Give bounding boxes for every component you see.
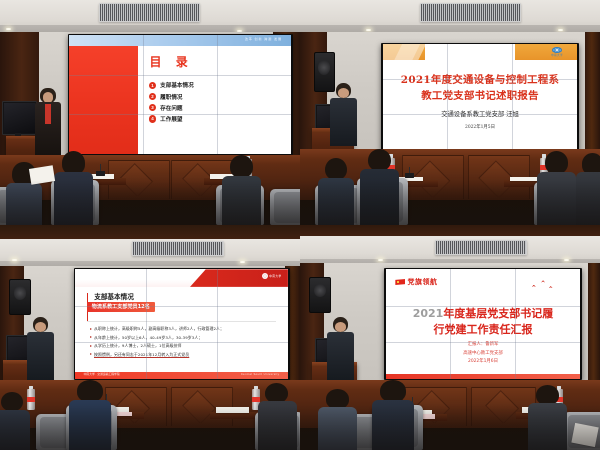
party-flag-banner: 党旗领航 bbox=[395, 277, 437, 287]
audience-head bbox=[265, 383, 288, 404]
bullet-marker-icon: ▸ bbox=[90, 352, 92, 356]
logo-disc-icon bbox=[262, 273, 268, 279]
bullet-marker-icon: ▸ bbox=[90, 344, 92, 348]
slide-title: 目 录 bbox=[150, 53, 193, 70]
downlight-icon bbox=[12, 259, 17, 261]
slide-surface: 中南大学 2021年度交通设备与控制工程系 教工党支部书记述职报告 交通设备系教… bbox=[383, 44, 578, 149]
slide-red-block bbox=[69, 46, 138, 154]
slide-surface: 支部基本情况 中南大学 物流系教工支部党员12名 ▸ 从职称上统计，高级职称5人… bbox=[75, 269, 288, 378]
list-item: 1 支部基本情况 bbox=[149, 81, 194, 89]
list-item: 4 工作展望 bbox=[149, 115, 194, 123]
slide-title-rest: 年度基层党支部书记履 bbox=[443, 307, 553, 320]
presenter-body bbox=[27, 332, 54, 381]
audience-head bbox=[582, 153, 600, 175]
foreground-shadow bbox=[300, 405, 600, 450]
presenter-body bbox=[327, 332, 354, 381]
list-item: ▸ 从职称上统计，高级职称5人，副高级职称3人，讲师2人，行政管理2人； bbox=[90, 326, 277, 332]
bullet-text: 从年龄上统计，50岁以上6人，40-49岁3人，30-39岁3人； bbox=[94, 335, 202, 341]
presenter bbox=[35, 88, 62, 156]
agenda-number: 4 bbox=[149, 115, 156, 122]
screen-seam bbox=[217, 269, 218, 378]
doves-icon bbox=[532, 279, 559, 292]
screen-seam bbox=[146, 269, 147, 378]
slide-surface: 党旗领航 2021年度基层党支部书记履 行党建工作责任汇报 汇报人：鲁新军 高速… bbox=[386, 269, 581, 378]
slide-date: 2022年1月6日 bbox=[468, 358, 498, 364]
slide-top-bar: 改革 创新 跨越 发展 bbox=[69, 35, 291, 46]
bullet-text: 从职称上统计，高级职称5人，副高级职称3人，讲师2人，行政管理2人； bbox=[94, 326, 224, 332]
foreground-shadow bbox=[300, 180, 600, 225]
screen-seam bbox=[450, 269, 451, 378]
university-logo: 中南大学 bbox=[262, 273, 282, 279]
led-video-wall: 中南大学 2021年度交通设备与控制工程系 教工党支部书记述职报告 交通设备系教… bbox=[381, 43, 579, 151]
slide-footer: 中南大学 · 交通运输工程学院 Central South University bbox=[75, 372, 288, 379]
slide-date: 2022年1月5日 bbox=[465, 124, 495, 130]
photo-panel-bottom-right: 党旗领航 2021年度基层党支部书记履 行党建工作责任汇报 汇报人：鲁新军 高速… bbox=[300, 225, 600, 450]
screen-seam bbox=[447, 44, 448, 149]
list-item: ▸ 按照惯例，另还有同志于2021年12月转入为正式党员 bbox=[90, 352, 277, 358]
desk-microphone bbox=[405, 173, 414, 178]
list-item: ▸ 从学历上统计，9人博士，2人硕士，1位高级技师 bbox=[90, 343, 277, 349]
bullet-text: 按照惯例，另还有同志于2021年12月转入为正式党员 bbox=[94, 352, 189, 358]
screen-seam bbox=[75, 342, 288, 343]
slide-band-gap bbox=[425, 44, 515, 60]
slide-title-line2: 教工党支部书记述职报告 bbox=[421, 87, 539, 102]
slide-divider bbox=[87, 321, 276, 322]
slide-tag-badge: 物流系教工支部党员12名 bbox=[87, 302, 155, 312]
slide-title-line2: 行党建工作责任汇报 bbox=[434, 321, 533, 337]
slide-title-year: 2021 bbox=[413, 307, 444, 320]
presenter bbox=[27, 317, 54, 380]
screen-seam bbox=[383, 79, 578, 80]
presenter bbox=[327, 317, 354, 380]
screen-seam bbox=[383, 114, 578, 115]
agenda-label: 支部基本情况 bbox=[160, 81, 194, 89]
bullet-marker-icon: ▸ bbox=[90, 327, 92, 331]
screen-seam bbox=[75, 306, 288, 307]
screen-seam bbox=[515, 269, 516, 378]
photo-panel-top-right: 中南大学 2021年度交通设备与控制工程系 教工党支部书记述职报告 交通设备系教… bbox=[300, 0, 600, 225]
ac-vent-icon bbox=[420, 3, 521, 22]
party-flag-icon bbox=[395, 279, 405, 285]
agenda-number: 3 bbox=[149, 104, 156, 111]
presenter-scarf bbox=[45, 104, 50, 124]
audience-head bbox=[62, 151, 85, 175]
audience-head bbox=[77, 380, 102, 402]
slide-organization: 高速中心教工党支部 bbox=[463, 350, 503, 356]
screen-seam bbox=[217, 35, 218, 153]
audience-head bbox=[230, 155, 253, 178]
agenda-label: 工作展望 bbox=[160, 115, 182, 123]
presenter bbox=[330, 83, 357, 146]
slide-title-line1: 2021年度基层党支部书记履 bbox=[413, 305, 554, 321]
list-item: 3 存在问题 bbox=[149, 104, 194, 112]
slide-footer-right: Central South University bbox=[241, 373, 280, 376]
screen-seam bbox=[69, 114, 291, 115]
downlight-icon bbox=[378, 259, 383, 261]
university-logo: 中南大学 bbox=[546, 47, 567, 57]
photo-collage-grid: 改革 创新 跨越 发展 目 录 1 支部基本情况 2 履职情况 3 存在问题 bbox=[0, 0, 600, 450]
slide-surface: 改革 创新 跨越 发展 目 录 1 支部基本情况 2 履职情况 3 存在问题 bbox=[69, 35, 291, 153]
ac-vent-icon bbox=[435, 240, 527, 256]
bullet-marker-icon: ▸ bbox=[90, 335, 92, 339]
ac-vent-icon bbox=[99, 3, 200, 22]
slide-top-bar-text: 改革 创新 跨越 发展 bbox=[245, 36, 282, 41]
slide-bullet-list: ▸ 从职称上统计，高级职称5人，副高级职称3人，讲师2人，行政管理2人； ▸ 从… bbox=[90, 326, 277, 360]
list-item: 2 履职情况 bbox=[149, 93, 194, 101]
agenda-list: 1 支部基本情况 2 履职情况 3 存在问题 4 工作展望 bbox=[149, 81, 194, 126]
wall-wainscot-right bbox=[585, 32, 600, 163]
wall-speaker bbox=[9, 279, 31, 315]
screen-seam bbox=[143, 35, 144, 153]
desk-microphone bbox=[96, 171, 105, 176]
audience-head bbox=[368, 149, 391, 172]
audience-head bbox=[545, 151, 568, 174]
audience-head bbox=[380, 380, 405, 402]
presenter-body bbox=[330, 98, 357, 147]
led-video-wall: 支部基本情况 中南大学 物流系教工支部党员12名 ▸ 从职称上统计，高级职称5人… bbox=[74, 268, 290, 381]
audience-head bbox=[325, 158, 347, 181]
logo-name: 中南大学 bbox=[269, 274, 281, 278]
screen-seam bbox=[512, 44, 513, 149]
downlight-icon bbox=[564, 259, 569, 261]
led-video-wall: 党旗领航 2021年度基层党支部书记履 行党建工作责任汇报 汇报人：鲁新军 高速… bbox=[384, 268, 582, 381]
slide-footer bbox=[386, 374, 581, 379]
banner-text: 党旗领航 bbox=[408, 277, 438, 287]
screen-seam bbox=[386, 342, 581, 343]
logo-name: 中南大学 bbox=[551, 53, 563, 57]
screen-seam bbox=[386, 306, 581, 307]
foreground-shadow bbox=[0, 405, 300, 450]
agenda-number: 1 bbox=[149, 82, 156, 89]
agenda-number: 2 bbox=[149, 93, 156, 100]
slide-footer-left: 中南大学 · 交通运输工程学院 bbox=[84, 372, 120, 376]
foreground-shadow bbox=[0, 180, 300, 225]
wall-wainscot-right bbox=[588, 263, 600, 389]
downlight-icon bbox=[240, 261, 245, 263]
bullet-text: 从学历上统计，9人博士，2人硕士，1位高级技师 bbox=[94, 343, 182, 349]
agenda-label: 履职情况 bbox=[160, 93, 182, 101]
podium-monitor bbox=[2, 101, 37, 135]
logo-disc-icon bbox=[552, 47, 562, 53]
photo-panel-top-left: 改革 创新 跨越 发展 目 录 1 支部基本情况 2 履职情况 3 存在问题 bbox=[0, 0, 300, 225]
ac-vent-icon bbox=[132, 241, 224, 257]
list-item: ▸ 从年龄上统计，50岁以上6人，40-49岁3人，30-39岁3人； bbox=[90, 335, 277, 341]
audience-head bbox=[536, 385, 559, 405]
slide-heading: 支部基本情况 bbox=[94, 291, 134, 301]
agenda-label: 存在问题 bbox=[160, 104, 182, 112]
slide-title-line1: 2021年度交通设备与控制工程系 bbox=[401, 71, 559, 86]
wall-speaker bbox=[309, 277, 331, 313]
photo-panel-bottom-left: 支部基本情况 中南大学 物流系教工支部党员12名 ▸ 从职称上统计，高级职称5人… bbox=[0, 225, 300, 450]
led-video-wall: 改革 创新 跨越 发展 目 录 1 支部基本情况 2 履职情况 3 存在问题 bbox=[68, 34, 293, 156]
screen-seam bbox=[69, 75, 291, 76]
